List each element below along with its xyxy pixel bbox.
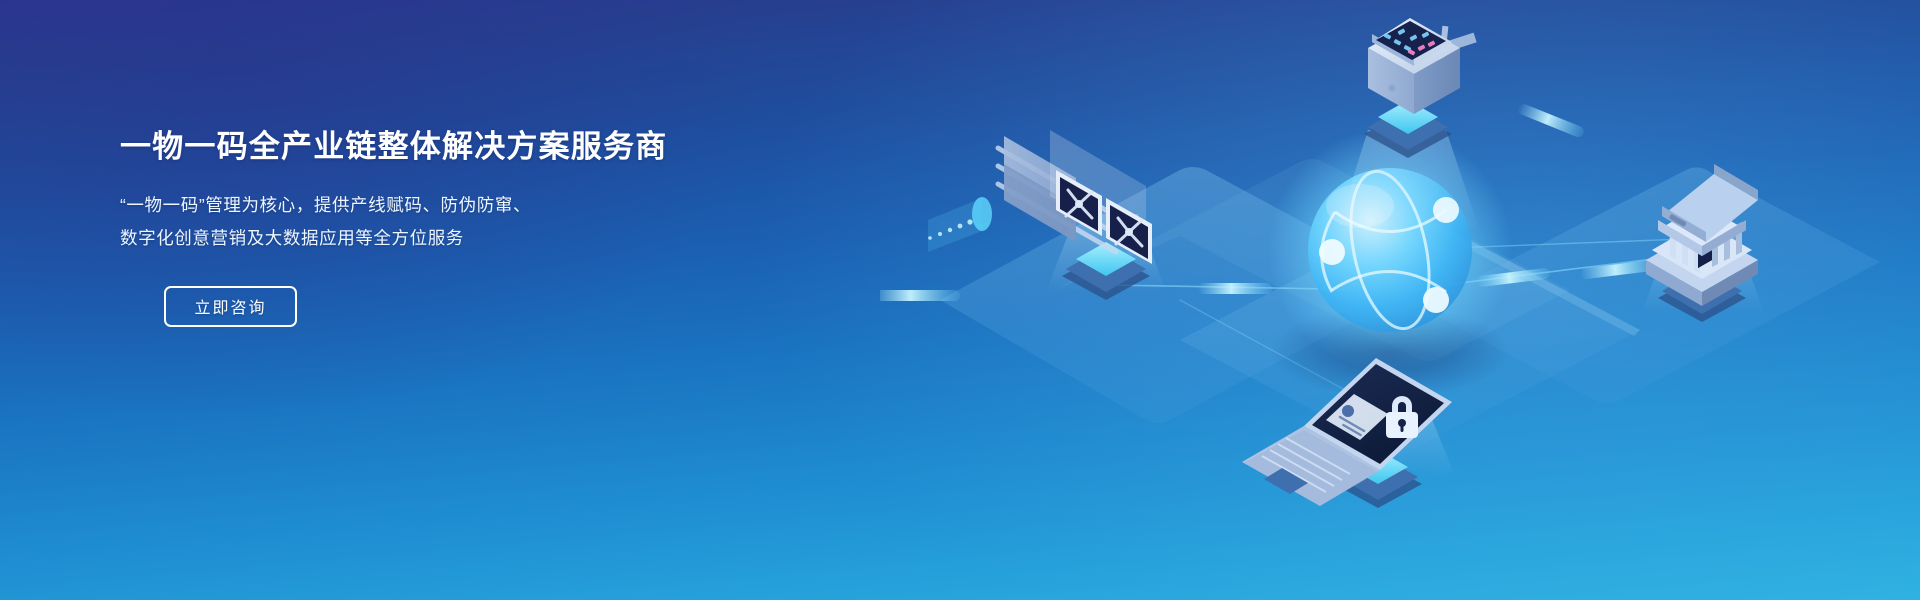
hero-banner: 一物一码全产业链整体解决方案服务商 “一物一码”管理为核心，提供产线赋码、防伪防… [0,0,1920,600]
server-fan-unit-icon [928,130,1152,264]
hero-copy-block: 一物一码全产业链整体解决方案服务商 “一物一码”管理为核心，提供产线赋码、防伪防… [120,128,840,327]
subtitle-line-1: “一物一码”管理为核心，提供产线赋码、防伪防窜、 [120,189,840,222]
signal-emitter-icon [928,197,992,252]
consult-now-button[interactable]: 立即咨询 [164,286,297,327]
page-title: 一物一码全产业链整体解决方案服务商 [120,128,840,167]
hero-subtitle: “一物一码”管理为核心，提供产线赋码、防伪防窜、 数字化创意营销及大数据应用等全… [120,189,840,255]
cash-register-icon [1368,18,1477,114]
subtitle-line-2: 数字化创意营销及大数据应用等全方位服务 [120,222,840,255]
hero-illustration [880,0,1920,600]
